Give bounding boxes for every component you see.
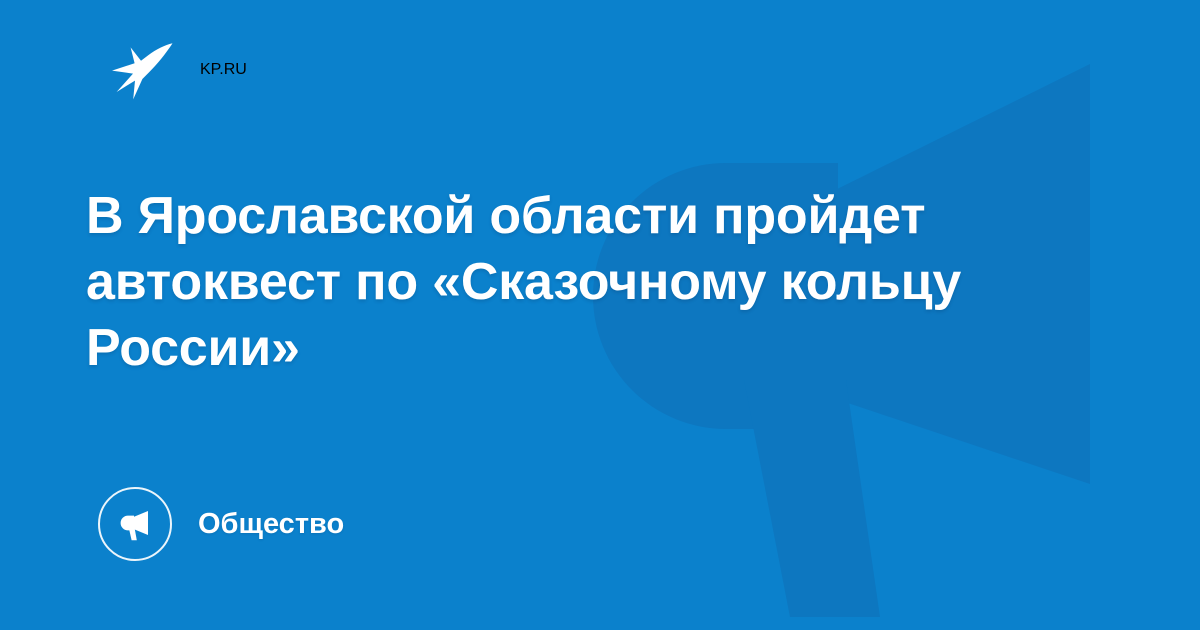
swallow-bird-icon <box>108 37 178 103</box>
article-headline: В Ярославской области пройдет автоквест … <box>86 183 1096 381</box>
megaphone-icon <box>98 487 172 561</box>
brand-lockup[interactable]: KP.RU <box>108 34 247 106</box>
category-row[interactable]: Общество <box>98 487 344 561</box>
category-label: Общество <box>198 510 344 539</box>
article-share-card: KP.RU В Ярославской области пройдет авто… <box>0 0 1200 630</box>
brand-name: KP.RU <box>200 61 247 79</box>
